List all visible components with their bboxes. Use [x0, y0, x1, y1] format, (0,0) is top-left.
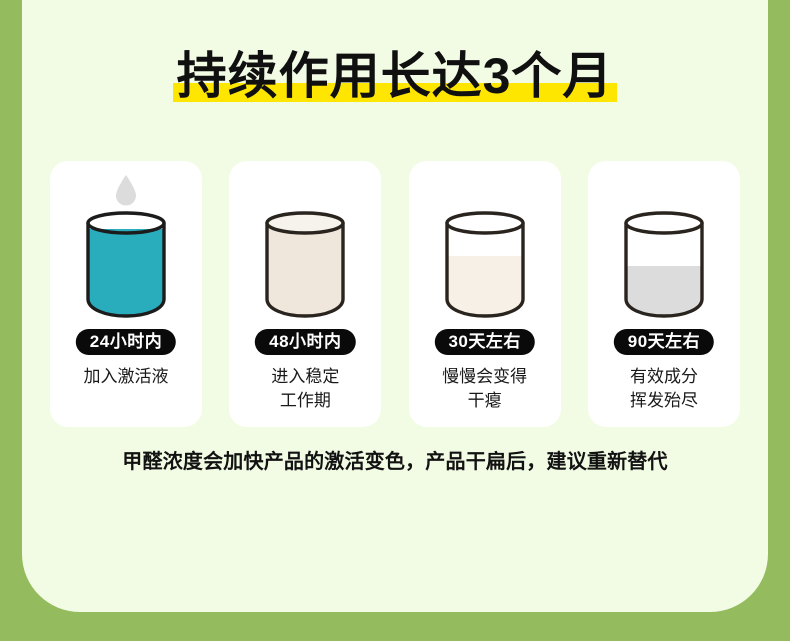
title-inline-wrap: 持续作用长达3个月	[171, 44, 620, 108]
stage-caption-line2: 干瘪	[409, 389, 561, 413]
stage-caption-line1: 加入激活液	[84, 367, 169, 386]
stage-caption: 加入激活液	[50, 365, 202, 389]
stage-illustration	[229, 167, 381, 327]
stage-illustration	[588, 167, 740, 327]
stage-caption: 进入稳定 工作期	[229, 365, 381, 413]
cup-icon	[259, 211, 351, 328]
cup-icon	[439, 211, 531, 328]
status-badge: 90天左右	[614, 329, 714, 355]
stage-illustration	[409, 167, 561, 327]
stage-caption: 慢慢会变得 干瘪	[409, 365, 561, 413]
stage-card: 24小时内 加入激活液	[50, 161, 202, 427]
poster-title-block: 持续作用长达3个月	[0, 44, 790, 116]
stage-card: 30天左右 慢慢会变得 干瘪	[409, 161, 561, 427]
stage-caption-line1: 进入稳定	[271, 367, 339, 386]
stage-card: 90天左右 有效成分 挥发殆尽	[588, 161, 740, 427]
stage-caption: 有效成分 挥发殆尽	[588, 365, 740, 413]
stage-caption-line2: 工作期	[229, 389, 381, 413]
poster-root: 持续作用长达3个月	[0, 0, 790, 641]
water-droplet-icon	[113, 173, 139, 212]
status-badge: 24小时内	[76, 329, 176, 355]
status-badge: 48小时内	[255, 329, 355, 355]
status-badge: 30天左右	[434, 329, 534, 355]
stage-cards-row: 24小时内 加入激活液	[50, 161, 740, 427]
stage-card: 48小时内 进入稳定 工作期	[229, 161, 381, 427]
cup-icon	[618, 211, 710, 328]
footer-note: 甲醛浓度会加快产品的激活变色，产品干扁后，建议重新替代	[0, 447, 790, 477]
stage-caption-line1: 慢慢会变得	[442, 367, 527, 386]
stage-caption-line2: 挥发殆尽	[588, 389, 740, 413]
cup-icon	[80, 211, 172, 328]
page-title: 持续作用长达3个月	[177, 48, 614, 104]
stage-caption-line1: 有效成分	[630, 367, 698, 386]
stage-illustration	[50, 167, 202, 327]
